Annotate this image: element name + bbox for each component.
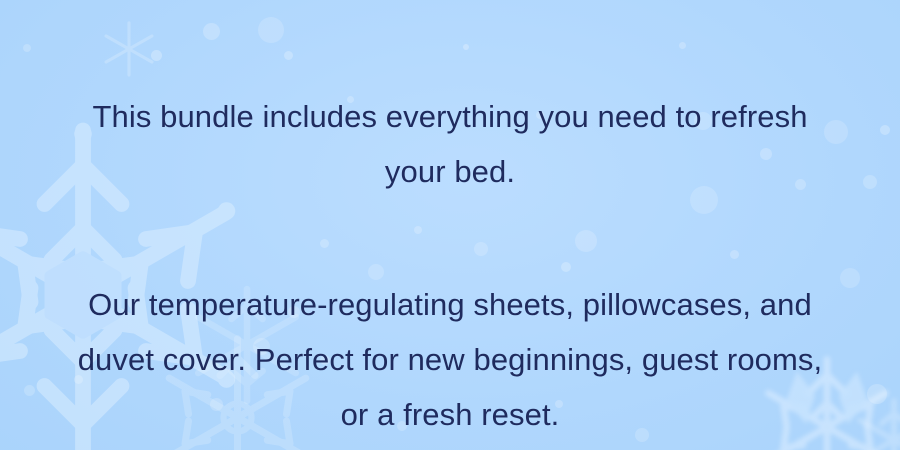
- banner-content: This bundle includes everything you need…: [0, 0, 900, 450]
- promo-banner: This bundle includes everything you need…: [0, 0, 900, 450]
- paragraph-intro: This bundle includes everything you need…: [70, 89, 830, 199]
- paragraph-details: Our temperature-regulating sheets, pillo…: [70, 277, 830, 442]
